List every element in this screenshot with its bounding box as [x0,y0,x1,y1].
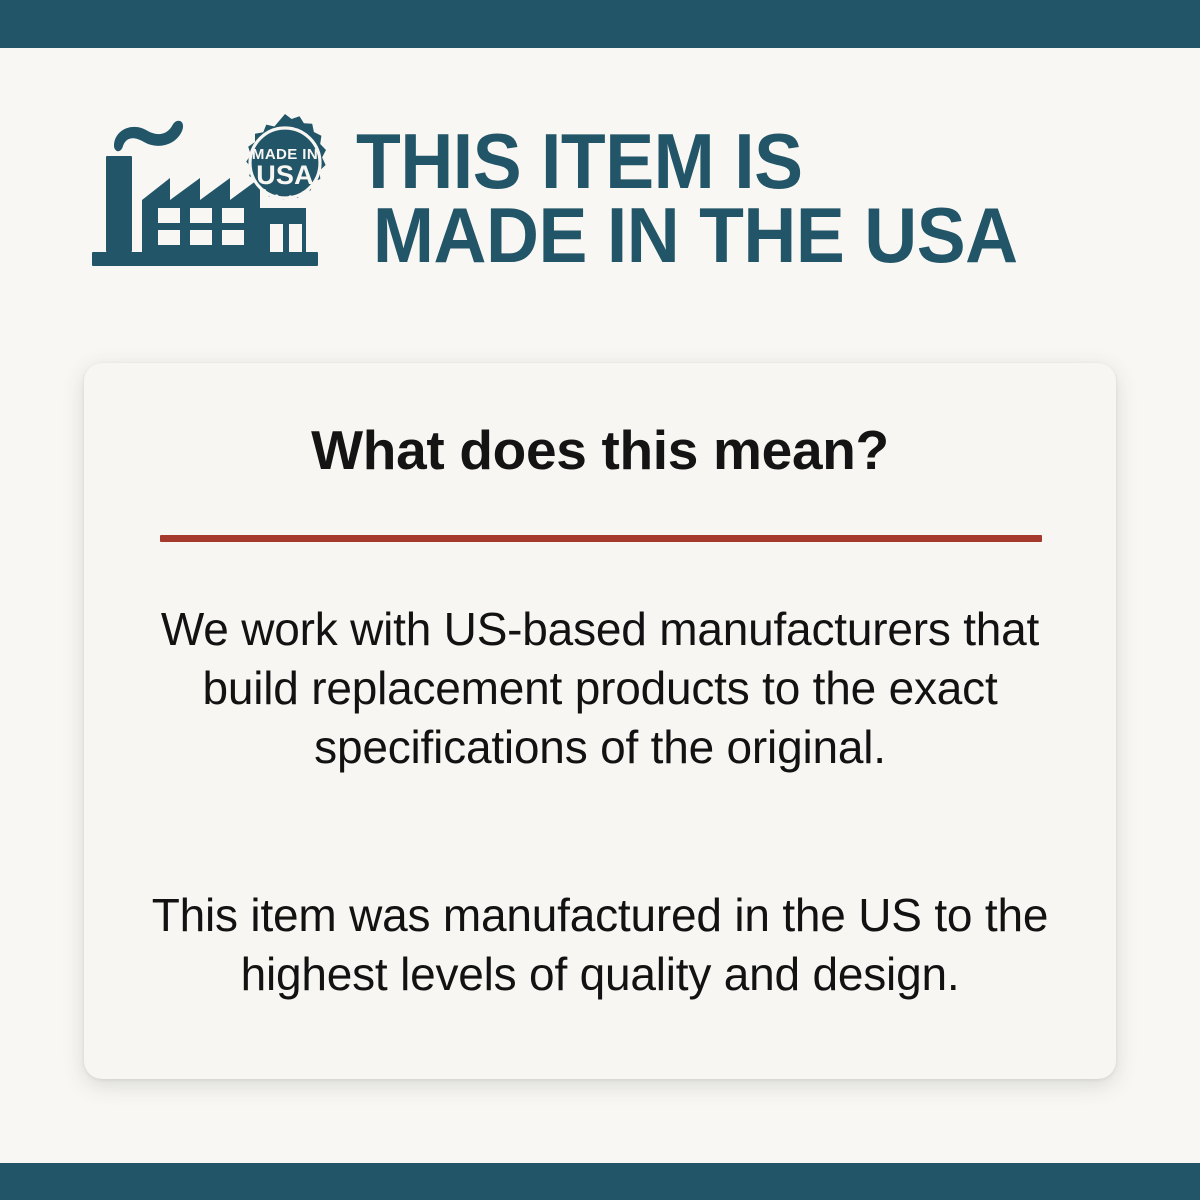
card-paragraph-2: This item was manufactured in the US to … [140,886,1060,1004]
card-divider [160,535,1042,542]
card-title: What does this mean? [84,423,1116,478]
page-title: THIS ITEM IS MADE IN THE USA [356,124,1097,272]
header: MADE IN USA THIS ITEM IS MADE IN THE USA [84,98,1144,298]
card-paragraph-1: We work with US-based manufacturers that… [140,600,1060,777]
page-title-line-2: MADE IN THE USA [356,198,1097,272]
page-canvas: MADE IN USA THIS ITEM IS MADE IN THE USA… [0,48,1200,1163]
info-card: What does this mean? We work with US-bas… [84,363,1116,1079]
made-in-usa-seal-icon: MADE IN USA [246,114,326,200]
factory-logo: MADE IN USA [84,108,334,288]
bottom-brand-bar [0,1163,1200,1200]
top-brand-bar [0,0,1200,48]
page-title-line-1: THIS ITEM IS [356,124,1097,198]
seal-line-2: USA [256,160,314,190]
